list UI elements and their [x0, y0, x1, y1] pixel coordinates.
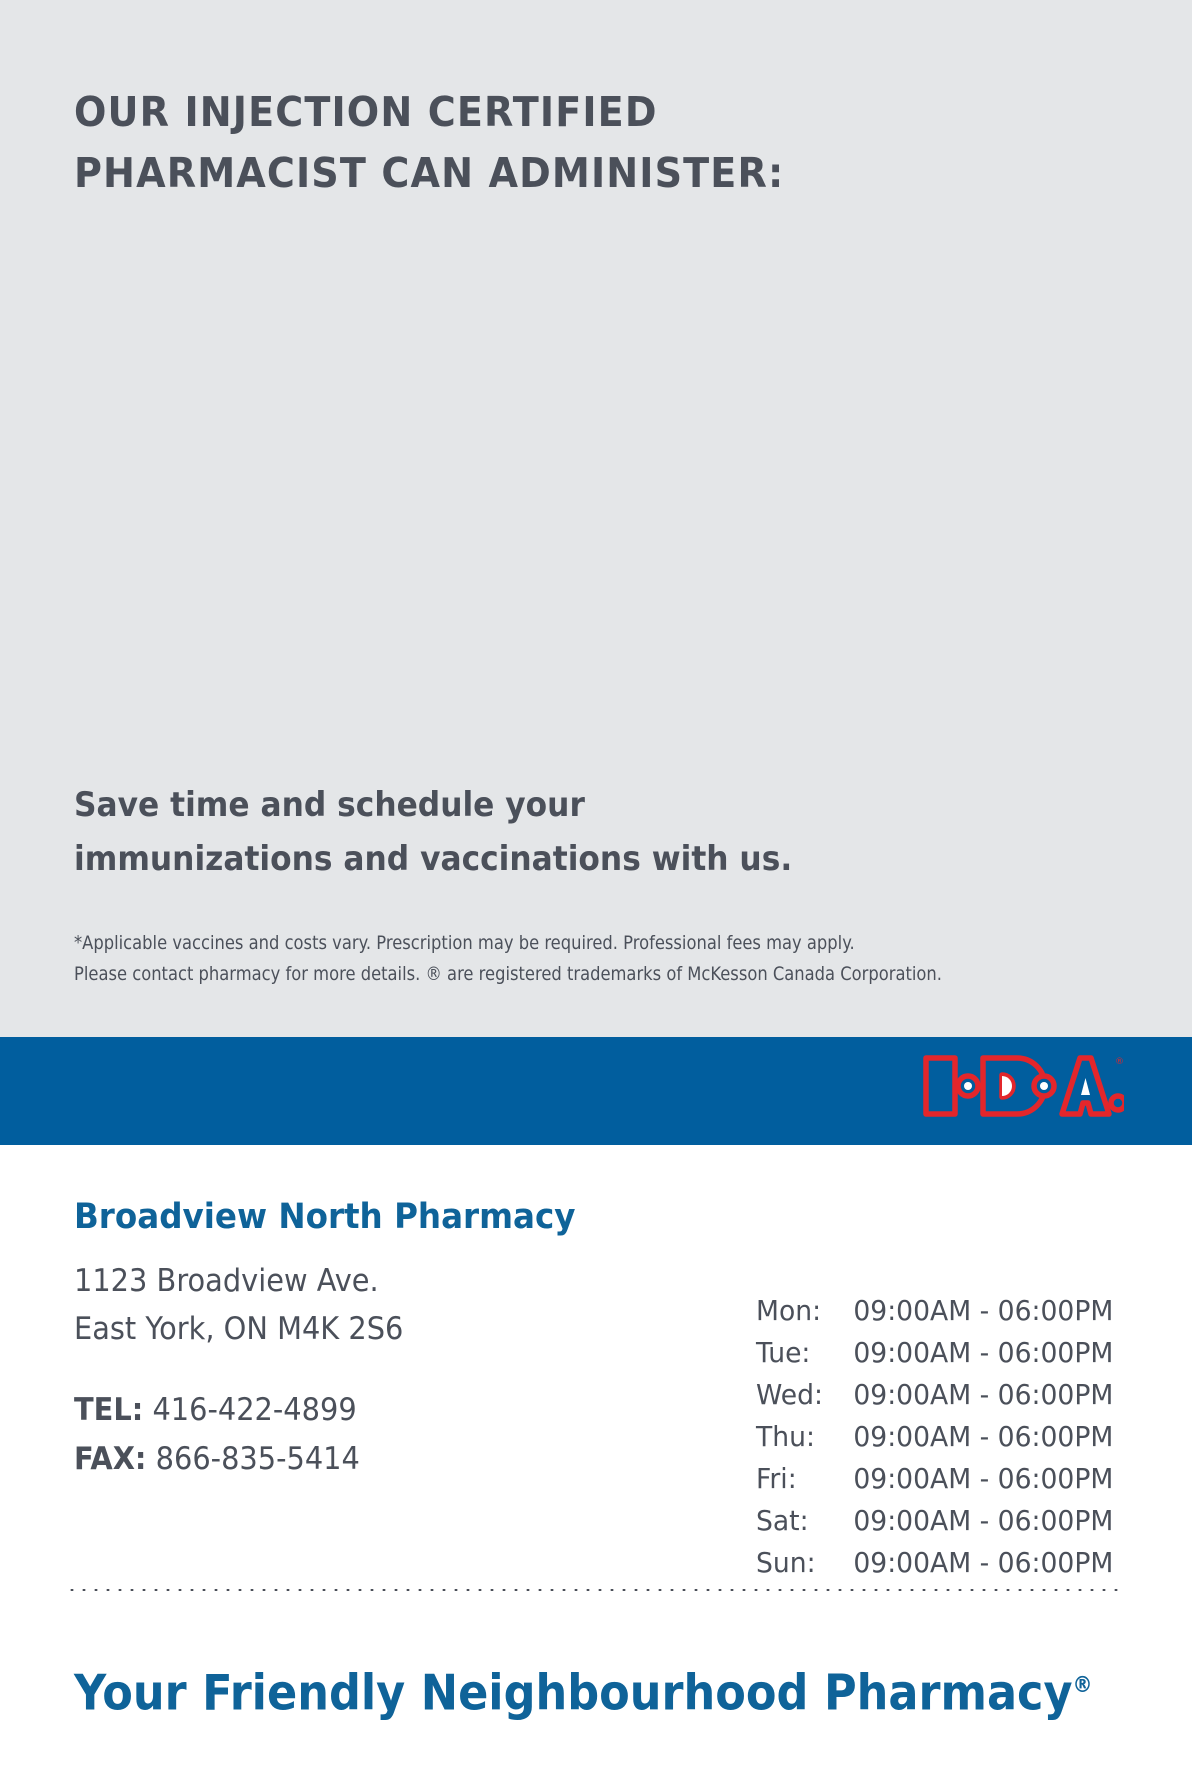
- hours-time-value: 09:00AM - 06:00PM: [853, 1294, 1113, 1336]
- registered-trademark-icon: ®: [1073, 1673, 1093, 1698]
- disclaimer-line-1: *Applicable vaccines and costs vary. Pre…: [74, 928, 986, 959]
- tagline: Your Friendly Neighbourhood Pharmacy®: [74, 1655, 1093, 1724]
- table-row: Sun: 09:00AM - 06:00PM: [756, 1546, 1113, 1588]
- hours-day-label: Thu:: [756, 1420, 853, 1462]
- store-hours-table: Mon: 09:00AM - 06:00PM Tue: 09:00AM - 06…: [756, 1294, 1113, 1588]
- telephone-label: TEL:: [74, 1392, 143, 1428]
- disclaimer-line-2: Please contact pharmacy for more details…: [74, 959, 986, 990]
- table-row: Wed: 09:00AM - 06:00PM: [756, 1378, 1113, 1420]
- store-address: 1123 Broadview Ave. East York, ON M4K 2S…: [74, 1257, 403, 1353]
- table-row: Thu: 09:00AM - 06:00PM: [756, 1420, 1113, 1462]
- hours-time-value: 09:00AM - 06:00PM: [853, 1546, 1113, 1588]
- hours-time-value: 09:00AM - 06:00PM: [853, 1504, 1113, 1546]
- address-line-2: East York, ON M4K 2S6: [74, 1305, 403, 1353]
- fax-row: FAX: 866-835-5414: [74, 1435, 360, 1484]
- page-title: OUR INJECTION CERTIFIED PHARMACIST CAN A…: [74, 82, 892, 204]
- store-name: Broadview North Pharmacy: [74, 1195, 576, 1239]
- ida-logo: ®: [919, 1047, 1124, 1125]
- table-row: Fri: 09:00AM - 06:00PM: [756, 1462, 1113, 1504]
- store-contact: TEL: 416-422-4899 FAX: 866-835-5414: [74, 1386, 360, 1484]
- top-gray-panel: OUR INJECTION CERTIFIED PHARMACIST CAN A…: [0, 0, 1192, 1037]
- hours-time-value: 09:00AM - 06:00PM: [853, 1420, 1113, 1462]
- subheading-line-2: immunizations and vaccinations with us.: [74, 832, 847, 886]
- page-title-line-1: OUR INJECTION CERTIFIED: [74, 82, 892, 143]
- fax-label: FAX:: [74, 1441, 146, 1477]
- fax-value: 866-835-5414: [156, 1441, 360, 1477]
- svg-text:®: ®: [1115, 1057, 1124, 1067]
- hours-day-label: Fri:: [756, 1462, 853, 1504]
- subheading-line-1: Save time and schedule your: [74, 778, 847, 832]
- page-title-line-2: PHARMACIST CAN ADMINISTER:: [74, 143, 892, 204]
- hours-day-label: Sun:: [756, 1546, 853, 1588]
- hours-time-value: 09:00AM - 06:00PM: [853, 1336, 1113, 1378]
- tagline-text: Your Friendly Neighbourhood Pharmacy: [74, 1664, 1073, 1721]
- address-line-1: 1123 Broadview Ave.: [74, 1257, 403, 1305]
- pharmacy-flyer: OUR INJECTION CERTIFIED PHARMACIST CAN A…: [0, 0, 1192, 1785]
- hours-time-value: 09:00AM - 06:00PM: [853, 1378, 1113, 1420]
- hours-day-label: Tue:: [756, 1336, 853, 1378]
- hours-day-label: Sat:: [756, 1504, 853, 1546]
- subheading: Save time and schedule your immunization…: [74, 778, 847, 886]
- table-row: Sat: 09:00AM - 06:00PM: [756, 1504, 1113, 1546]
- store-hours-body: Mon: 09:00AM - 06:00PM Tue: 09:00AM - 06…: [756, 1294, 1113, 1588]
- table-row: Mon: 09:00AM - 06:00PM: [756, 1294, 1113, 1336]
- telephone-row: TEL: 416-422-4899: [74, 1386, 360, 1435]
- hours-time-value: 09:00AM - 06:00PM: [853, 1462, 1113, 1504]
- telephone-value[interactable]: 416-422-4899: [152, 1392, 356, 1428]
- disclaimer-text: *Applicable vaccines and costs vary. Pre…: [74, 928, 986, 990]
- dotted-divider: [66, 1587, 1126, 1593]
- hours-day-label: Mon:: [756, 1294, 853, 1336]
- table-row: Tue: 09:00AM - 06:00PM: [756, 1336, 1113, 1378]
- hours-day-label: Wed:: [756, 1378, 853, 1420]
